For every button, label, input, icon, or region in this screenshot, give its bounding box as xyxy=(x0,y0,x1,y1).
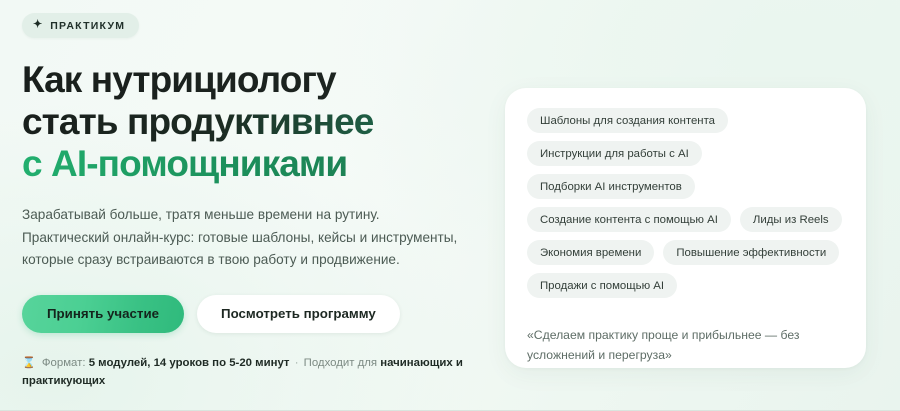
topic-chip: Продажи с помощью AI xyxy=(527,273,677,298)
topic-chip-row: Создание контента с помощью AIЛиды из Re… xyxy=(527,207,844,232)
landing-hero-page: ✦ ПРАКТИКУМ Как нутрициологу стать проду… xyxy=(0,0,900,411)
page-title-line-3: с AI-помощниками xyxy=(22,143,492,185)
card-quote: «Сделаем практику проще и прибыльнее — б… xyxy=(527,326,827,366)
hero-left-column: ✦ ПРАКТИКУМ Как нутрициологу стать проду… xyxy=(22,13,492,391)
topic-chip-row: Подборки AI инструментов xyxy=(527,174,844,199)
topic-chip: Подборки AI инструментов xyxy=(527,174,695,199)
topic-chip: Экономия времени xyxy=(527,240,654,265)
topic-chip: Повышение эффективности xyxy=(663,240,839,265)
practicum-badge-label: ПРАКТИКУМ xyxy=(50,20,125,32)
topic-chip-row: Продажи с помощью AI xyxy=(527,273,844,298)
topics-card: Шаблоны для создания контентаИнструкции … xyxy=(505,88,866,368)
page-title-line-2: стать продуктивнее xyxy=(22,101,492,143)
practicum-badge: ✦ ПРАКТИКУМ xyxy=(22,13,139,38)
topic-chip: Создание контента с помощью AI xyxy=(527,207,731,232)
enroll-button[interactable]: Принять участие xyxy=(22,295,184,333)
hero-description: Зарабатывай больше, тратя меньше времени… xyxy=(22,204,462,272)
topic-chip-list: Шаблоны для создания контентаИнструкции … xyxy=(527,108,844,298)
sparkle-plus-icon: ✦ xyxy=(33,20,42,31)
topic-chip-row: Шаблоны для создания контента xyxy=(527,108,844,133)
page-title: Как нутрициологу стать продуктивнее с AI… xyxy=(22,59,492,185)
topic-chip: Инструкции для работы с AI xyxy=(527,141,702,166)
view-program-button[interactable]: Посмотреть программу xyxy=(197,295,400,333)
format-note-prefix: Формат: xyxy=(42,357,86,369)
format-note-middle: Подходит для xyxy=(304,357,377,369)
topic-chip-row: Экономия времениПовышение эффективности xyxy=(527,240,844,265)
hourglass-icon: ⌛ xyxy=(22,357,36,369)
page-title-line-1: Как нутрициологу xyxy=(22,59,492,101)
format-note-modules: 5 модулей, 14 уроков по 5-20 минут xyxy=(89,357,290,369)
format-note: ⌛ Формат: 5 модулей, 14 уроков по 5-20 м… xyxy=(22,354,470,391)
format-note-separator: · xyxy=(295,357,299,369)
topic-chip: Лиды из Reels xyxy=(740,207,842,232)
cta-button-row: Принять участие Посмотреть программу xyxy=(22,295,492,333)
topic-chip: Шаблоны для создания контента xyxy=(527,108,728,133)
topic-chip-row: Инструкции для работы с AI xyxy=(527,141,844,166)
